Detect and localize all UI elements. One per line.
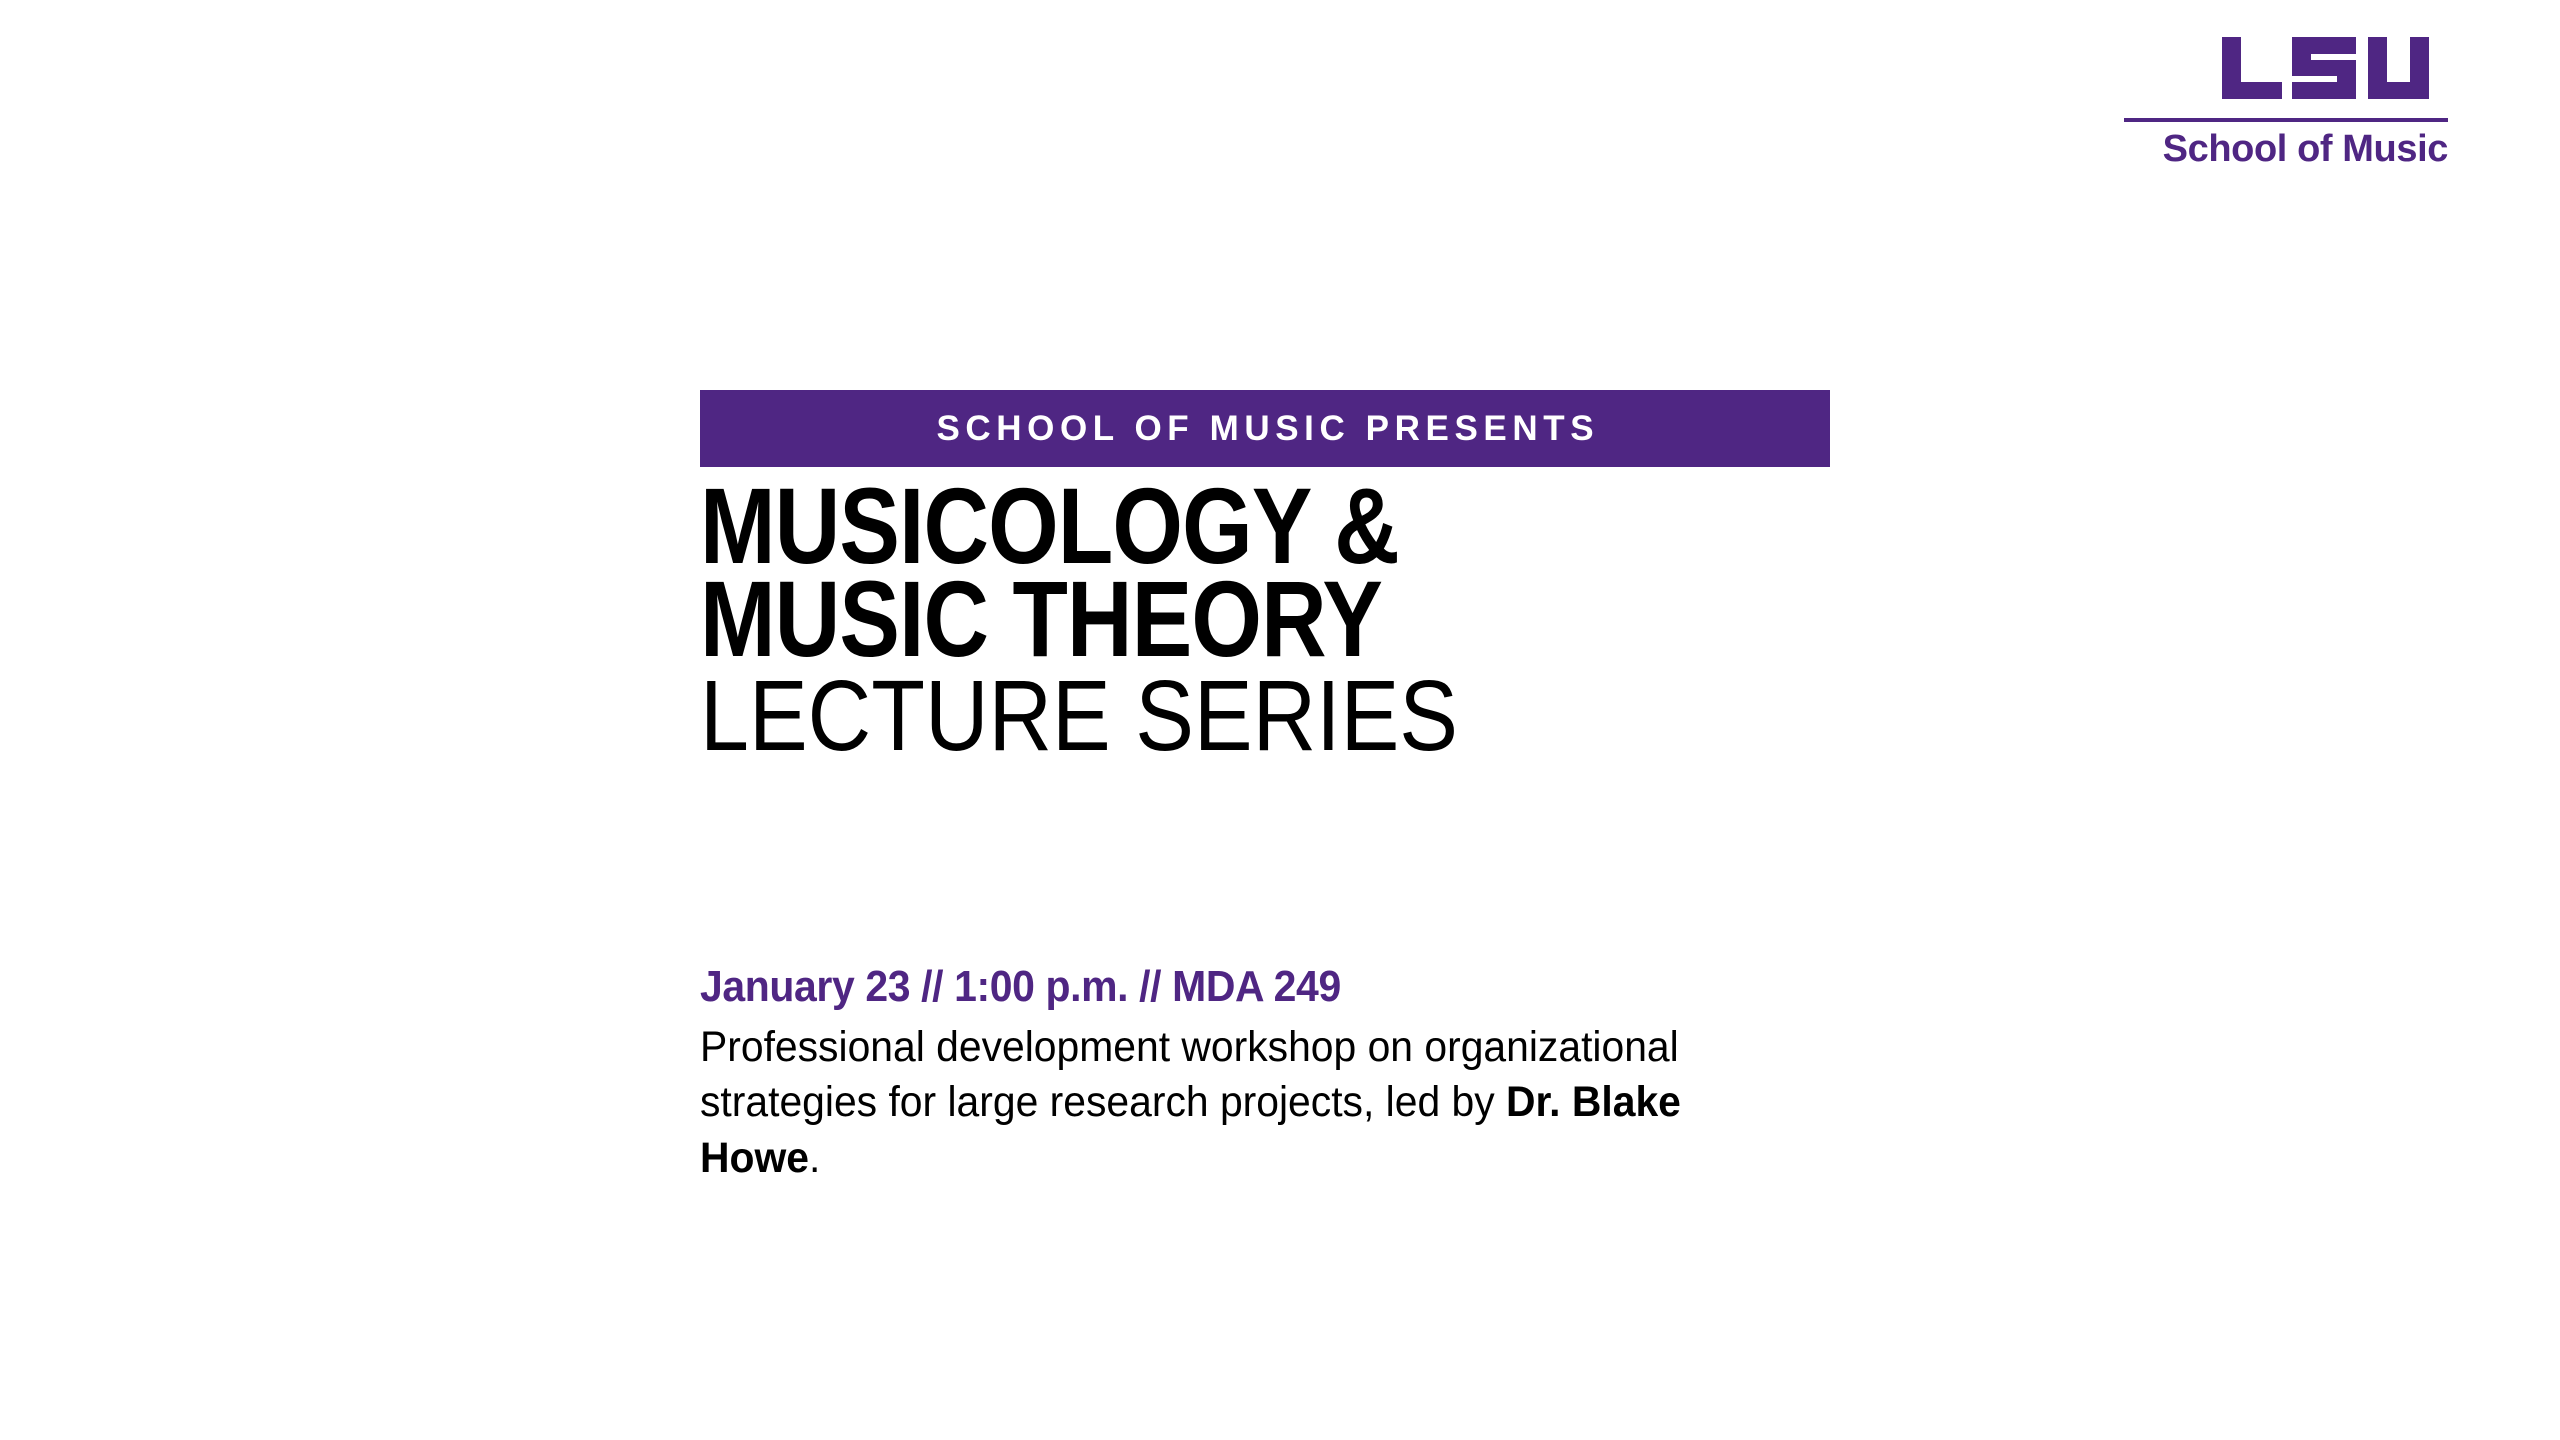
logo-subtitle: School of Music xyxy=(2118,130,2448,170)
lsu-wordmark-icon xyxy=(2222,34,2448,102)
event-details: January 23 // 1:00 p.m. // MDA 249 Profe… xyxy=(700,962,2400,1185)
presents-banner-label: SCHOOL OF MUSIC PRESENTS xyxy=(931,409,1599,449)
poster-content: SCHOOL OF MUSIC PRESENTS MUSICOLOGY & MU… xyxy=(700,390,2400,1186)
presents-banner: SCHOOL OF MUSIC PRESENTS xyxy=(700,390,1830,467)
event-description-period: . xyxy=(809,1134,820,1182)
title-line-2: MUSIC THEORY xyxy=(700,574,2128,665)
lsu-school-of-music-logo: School of Music xyxy=(2118,34,2448,170)
event-description: Professional development workshop on org… xyxy=(700,1020,1774,1185)
poster-title: MUSICOLOGY & MUSIC THEORY LECTURE SERIES xyxy=(700,481,2400,762)
event-meta-line: January 23 // 1:00 p.m. // MDA 249 xyxy=(700,962,2281,1012)
logo-divider xyxy=(2124,118,2448,122)
title-subtitle: LECTURE SERIES xyxy=(700,670,2196,762)
